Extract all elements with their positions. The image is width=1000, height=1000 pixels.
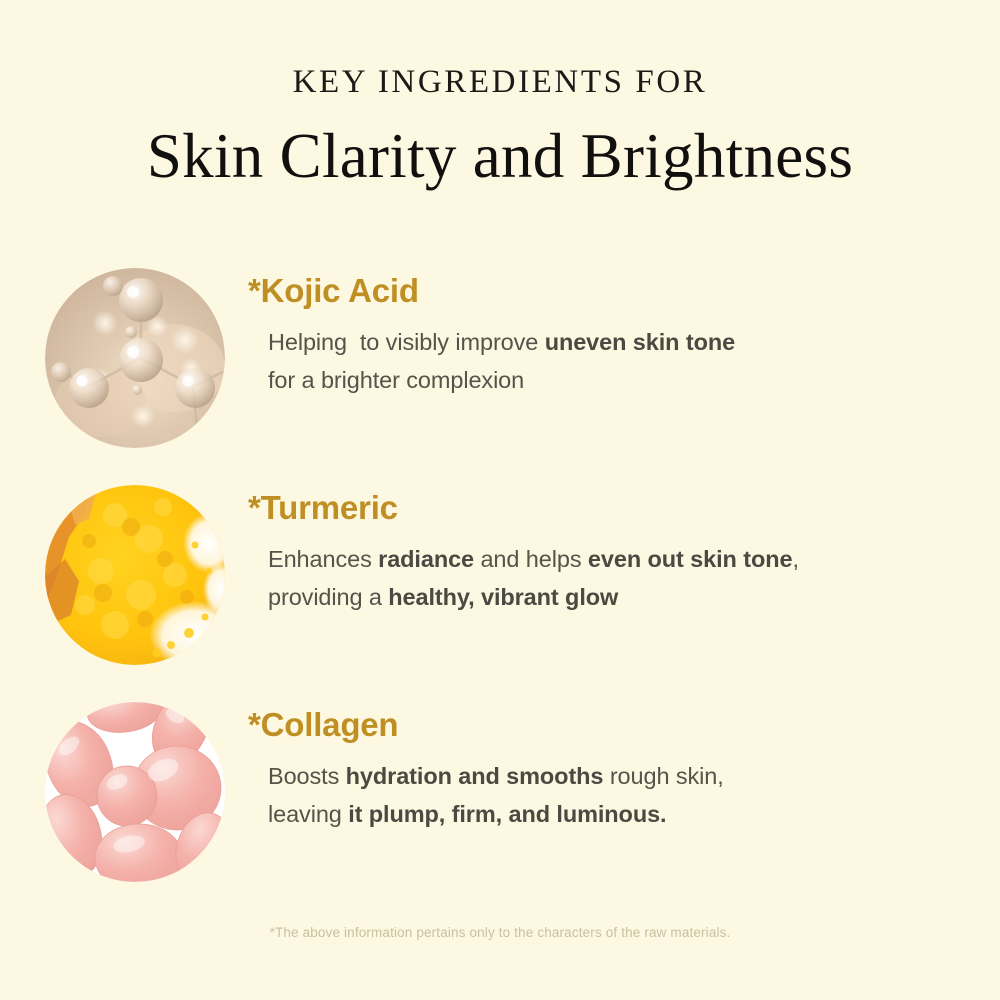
collagen-copy: *Collagen Boosts hydration and smooths r… — [248, 708, 970, 833]
ingredient-title: *Collagen — [248, 708, 970, 743]
ingredient-description: Enhances radiance and helps even out ski… — [268, 540, 970, 616]
ingredient-description: Helping to visibly improve uneven skin t… — [268, 323, 970, 399]
kojic-acid-copy: *Kojic Acid Helping to visibly improve u… — [248, 274, 970, 399]
footnote: *The above information pertains only to … — [0, 925, 1000, 940]
turmeric-copy: *Turmeric Enhances radiance and helps ev… — [248, 491, 970, 616]
kojic-acid-image — [45, 268, 225, 448]
list-item: *Turmeric Enhances radiance and helps ev… — [0, 475, 1000, 692]
ingredient-list: *Kojic Acid Helping to visibly improve u… — [0, 258, 1000, 909]
ingredient-description: Boosts hydration and smooths rough skin,… — [268, 757, 970, 833]
eyebrow-heading: KEY INGREDIENTS FOR — [0, 66, 1000, 99]
ingredient-title: *Kojic Acid — [248, 274, 970, 309]
header: KEY INGREDIENTS FOR Skin Clarity and Bri… — [0, 0, 1000, 192]
list-item: *Kojic Acid Helping to visibly improve u… — [0, 258, 1000, 475]
collagen-image — [45, 702, 225, 882]
ingredient-title: *Turmeric — [248, 491, 970, 526]
turmeric-image — [45, 485, 225, 665]
list-item: *Collagen Boosts hydration and smooths r… — [0, 692, 1000, 909]
page-title: Skin Clarity and Brightness — [0, 121, 1000, 192]
ingredients-infographic: KEY INGREDIENTS FOR Skin Clarity and Bri… — [0, 0, 1000, 1000]
